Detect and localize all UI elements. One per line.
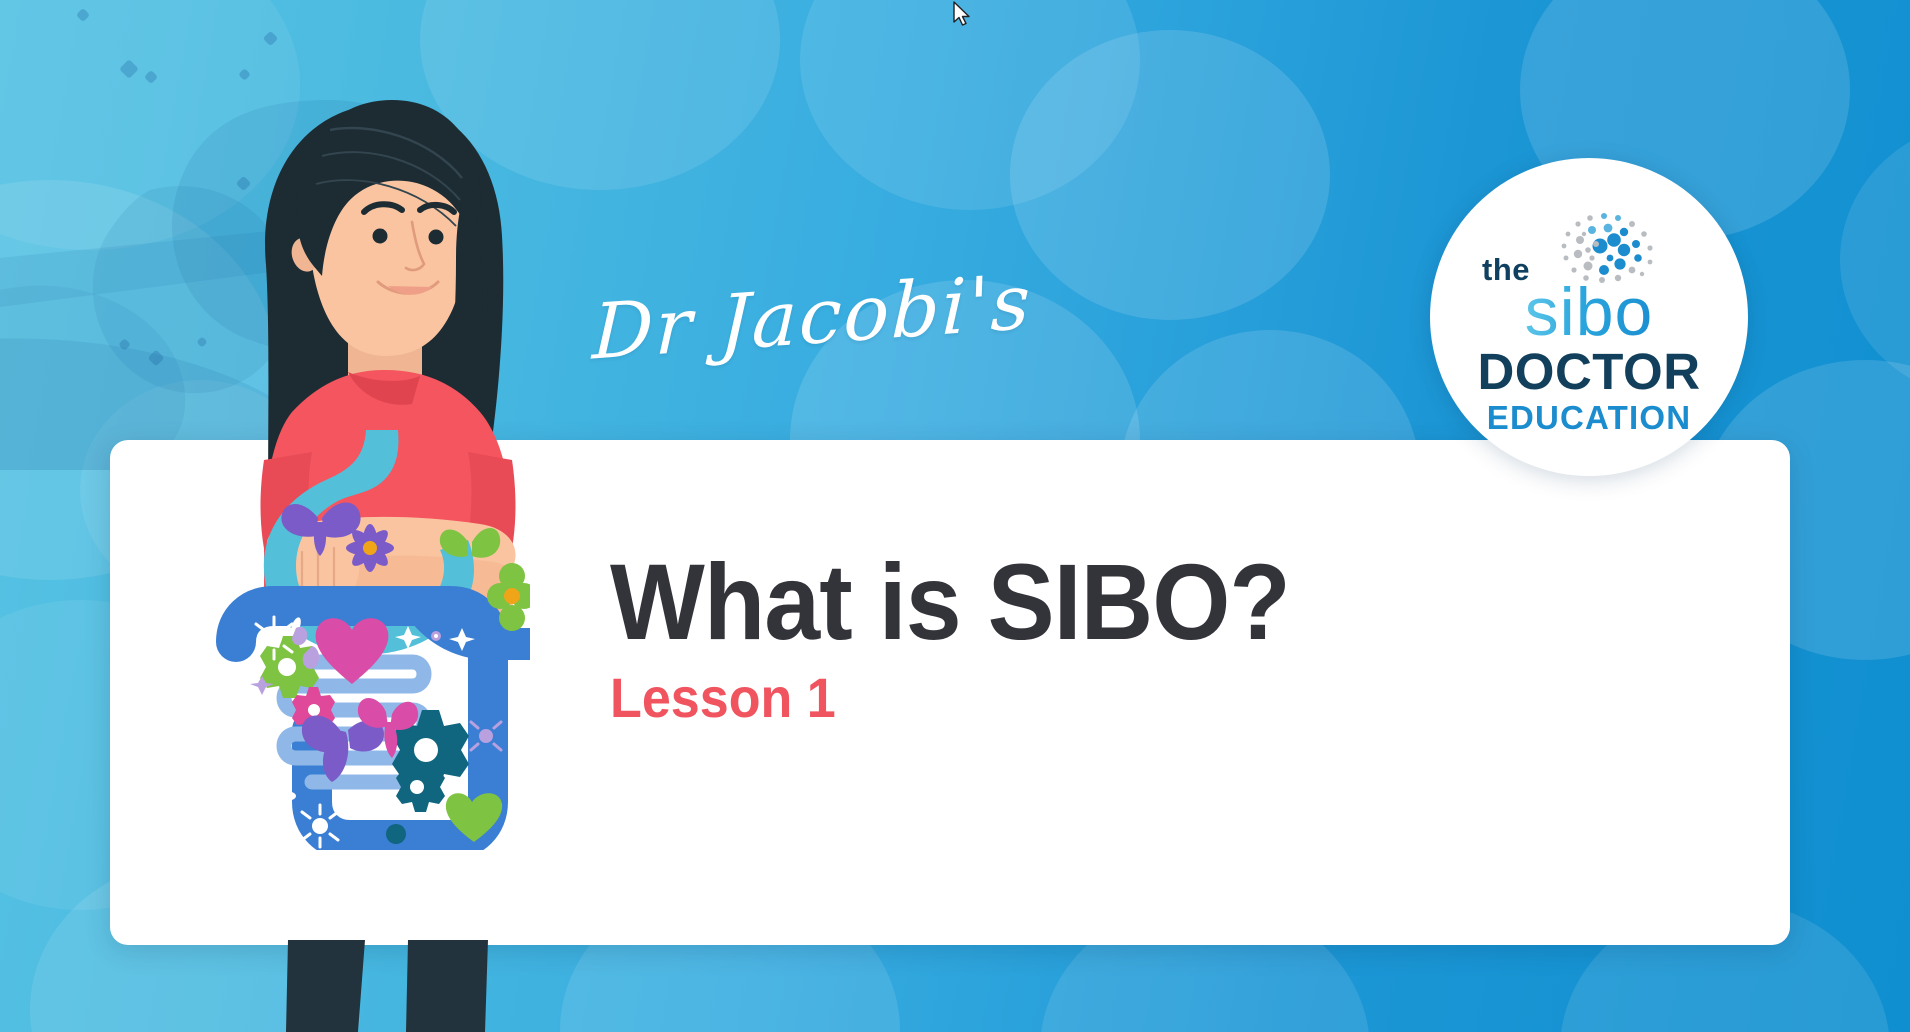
logo-sibo-text: sibo	[1525, 282, 1654, 343]
mouse-cursor-icon	[952, 1, 974, 31]
logo-top-row: the	[1476, 204, 1702, 290]
gut-illustration	[200, 430, 530, 850]
title-block: What is SIBO? Lesson 1	[610, 548, 1341, 726]
logo-education-text: EDUCATION	[1487, 401, 1692, 434]
slide-canvas: Dr Jacobi's What is SIBO? Lesson 1 the	[0, 0, 1910, 1032]
dot-spiral-icon	[1540, 202, 1660, 288]
logo-doctor-text: DOCTOR	[1477, 346, 1700, 397]
flower-decoration	[346, 524, 394, 572]
lesson-subtitle: Lesson 1	[610, 670, 1290, 726]
page-title: What is SIBO?	[610, 548, 1290, 656]
sibo-doctor-education-logo[interactable]: the	[1430, 158, 1748, 476]
logo-the-text: the	[1482, 252, 1530, 288]
